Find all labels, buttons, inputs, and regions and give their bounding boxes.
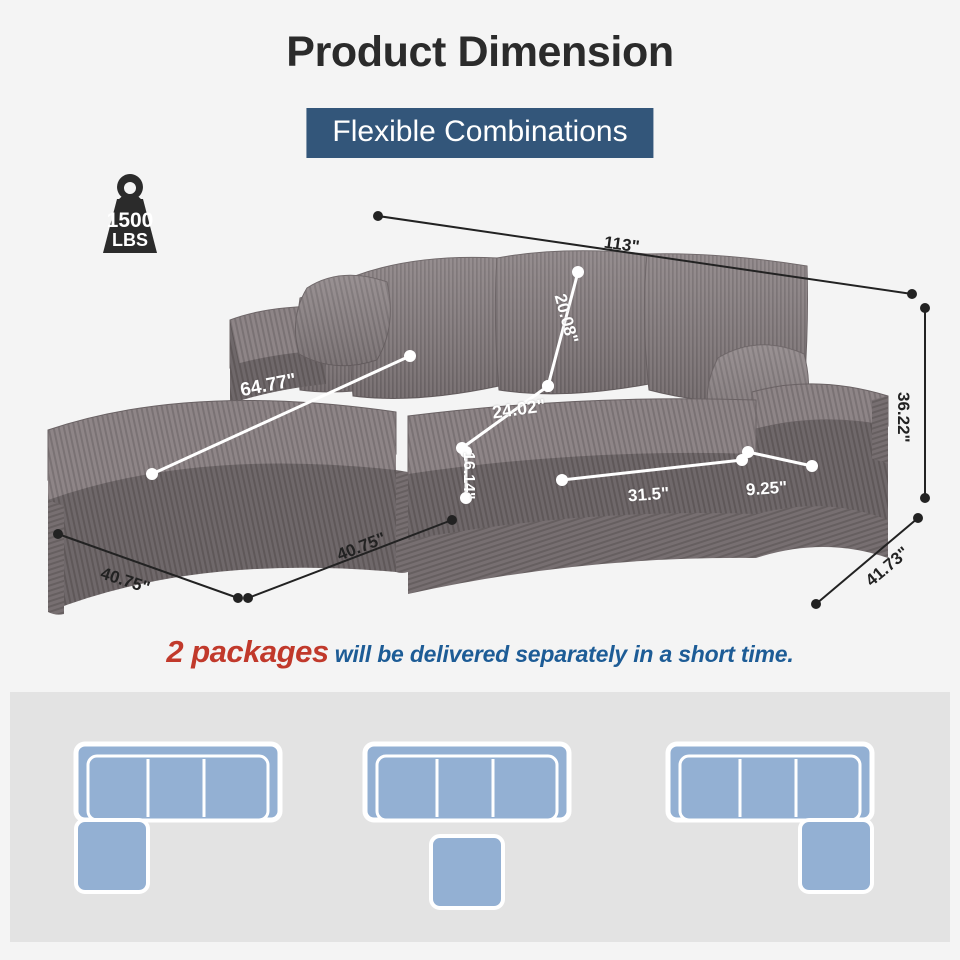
caption-highlight: 2 packages — [166, 634, 328, 669]
combo-right-chaise-diagram — [636, 692, 949, 942]
sofa-dimension-illustration: 113" 36.22" 64.77" 20.08" 24.02" 16.14" … — [0, 180, 960, 620]
delivery-caption: 2 packages will be delivered separately … — [0, 634, 960, 670]
infographic-canvas: Product Dimension Flexible Combinations … — [0, 0, 960, 960]
dimension-label-overall-height: 36.22" — [895, 392, 912, 443]
throw-pillow-left — [295, 275, 390, 366]
combo-ottoman-diagram — [323, 692, 636, 942]
sofa-drawing — [0, 180, 960, 620]
dimension-label-overall-width: 113" — [603, 234, 641, 256]
combo-right-chaise[interactable] — [636, 692, 949, 942]
combo-left-chaise[interactable] — [10, 692, 323, 942]
combo-left-chaise-diagram — [10, 692, 323, 942]
dimension-label-seat-height: 16.14" — [460, 452, 476, 500]
dimension-label-arm-width: 9.25" — [745, 479, 787, 499]
dimension-label-seat-width: 31.5" — [627, 485, 669, 505]
caption-rest: will be delivered separately in a short … — [329, 641, 794, 667]
page-title: Product Dimension — [0, 28, 960, 77]
subtitle-banner: Flexible Combinations — [306, 108, 653, 158]
combo-ottoman[interactable] — [323, 692, 636, 942]
combinations-panel — [10, 692, 950, 942]
